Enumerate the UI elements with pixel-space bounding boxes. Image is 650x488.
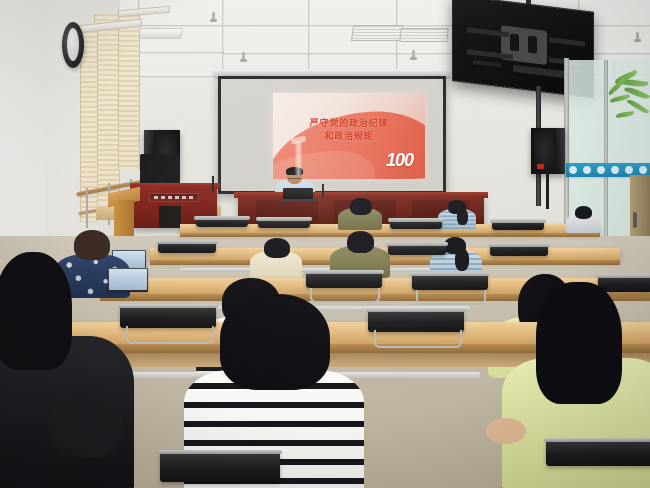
chair[interactable] (158, 242, 216, 253)
attendee (0, 276, 134, 488)
slide-title-line1: 严守党的政治纪律 (273, 117, 425, 130)
chair[interactable] (546, 440, 650, 466)
speaker-stand-right (546, 173, 549, 209)
attendee-hair (0, 252, 72, 370)
sprinkler-head (412, 50, 415, 59)
lecture-hall-photo: 严守党的政治纪律 和政治规矩 100 (0, 0, 650, 488)
band-emblem-icon (597, 166, 605, 174)
hvac-vent (351, 25, 403, 41)
chair[interactable] (306, 272, 382, 288)
attendee (438, 200, 476, 228)
chair-armrest (126, 326, 214, 344)
chair[interactable] (258, 219, 310, 228)
attendee (250, 240, 302, 276)
attendee-hair (350, 198, 372, 215)
door-handle[interactable] (633, 212, 637, 228)
chair[interactable] (492, 221, 544, 230)
band-emblem-icon (639, 166, 647, 174)
wall-speaker-right (531, 128, 565, 174)
chair-armrest (416, 290, 486, 305)
attendee-hair (575, 206, 592, 219)
podium-monitor (140, 154, 180, 184)
desk-edge (180, 233, 600, 237)
chair[interactable] (120, 306, 216, 328)
monument-silhouette-icon (295, 141, 302, 175)
window-blind (118, 10, 140, 170)
attendee-ponytail (455, 249, 469, 271)
sprinkler-head (636, 32, 639, 41)
band-emblem-icon (569, 166, 577, 174)
chair[interactable] (196, 218, 248, 227)
podium-pedestal (114, 200, 134, 236)
chair[interactable] (598, 276, 650, 292)
chair[interactable] (490, 245, 548, 256)
sprinkler-head (212, 12, 215, 21)
chair[interactable] (390, 220, 442, 229)
presenter-laptop-base (279, 199, 317, 202)
chair[interactable] (368, 310, 464, 332)
presentation-slide: 严守党的政治纪律 和政治规矩 100 (273, 93, 425, 179)
attendee-hair (220, 294, 330, 390)
podium-nameplate (149, 193, 199, 202)
attendee-hair (347, 231, 374, 253)
podium-microphone (212, 176, 214, 192)
attendee-hair (264, 238, 290, 258)
chair[interactable] (388, 244, 446, 255)
sprinkler-head (242, 52, 245, 61)
attendee-hair (74, 230, 110, 260)
chair-armrest (310, 288, 380, 303)
chair[interactable] (160, 452, 280, 482)
podium-control-panel[interactable] (159, 206, 181, 228)
attendee-arm (486, 418, 526, 444)
desk-microphone (322, 184, 324, 197)
chair[interactable] (412, 274, 488, 290)
sheer-sleeve (48, 394, 122, 458)
attendee-ponytail (457, 209, 468, 225)
potted-palm-plant (596, 72, 650, 134)
band-emblem-icon (625, 166, 633, 174)
band-emblem-icon (611, 166, 619, 174)
hvac-vent (399, 28, 448, 42)
wall-clock-icon (62, 22, 84, 68)
band-emblem-icon (583, 166, 591, 174)
attendee (566, 206, 600, 232)
centenary-logo: 100 (386, 150, 413, 171)
chair-armrest (374, 330, 462, 348)
rail-post (86, 188, 88, 228)
attendee (338, 198, 382, 228)
projection-screen: 严守党的政治纪律 和政治规矩 100 (218, 76, 446, 194)
attendee-hair (536, 282, 622, 404)
